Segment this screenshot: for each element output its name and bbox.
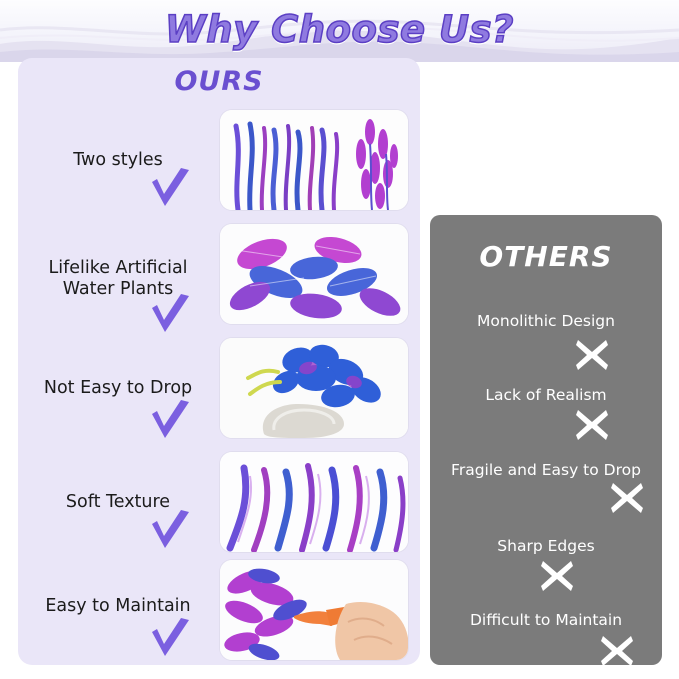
ours-label-3: Not Easy to Drop [20,378,216,399]
page-title: Why Choose Us? [0,8,679,51]
check-icon [148,400,192,444]
x-icon [600,634,634,668]
ours-label-5: Easy to Maintain [20,596,216,617]
x-icon [575,408,609,442]
others-label-3: Fragile and Easy to Drop [430,461,662,479]
ours-image-soft-texture [220,452,408,552]
others-label-2: Lack of Realism [430,386,662,404]
aquarium-plants-photo-2 [220,224,408,324]
ours-image-two-styles [220,110,408,210]
x-icon [540,559,574,593]
aquarium-plants-photo-3 [220,338,408,438]
check-icon [148,618,192,662]
others-panel [430,215,662,665]
ours-image-not-easy-to-drop [220,338,408,438]
others-label-1: Monolithic Design [430,312,662,330]
aquarium-plants-photo-4 [220,452,408,552]
others-label-5: Difficult to Maintain [430,611,662,629]
aquarium-plants-photo-5 [220,560,408,660]
aquarium-plants-photo-1 [220,110,408,210]
check-icon [148,294,192,338]
x-icon [575,338,609,372]
ours-image-lifelike [220,224,408,324]
check-icon [148,510,192,554]
ours-heading: OURS [18,66,420,97]
ours-image-easy-to-maintain [220,560,408,660]
check-icon [148,168,192,212]
comparison-infographic: Why Choose Us? OURS [0,0,679,679]
x-icon [610,481,644,515]
others-heading: OTHERS [430,240,662,273]
others-label-4: Sharp Edges [430,537,662,555]
